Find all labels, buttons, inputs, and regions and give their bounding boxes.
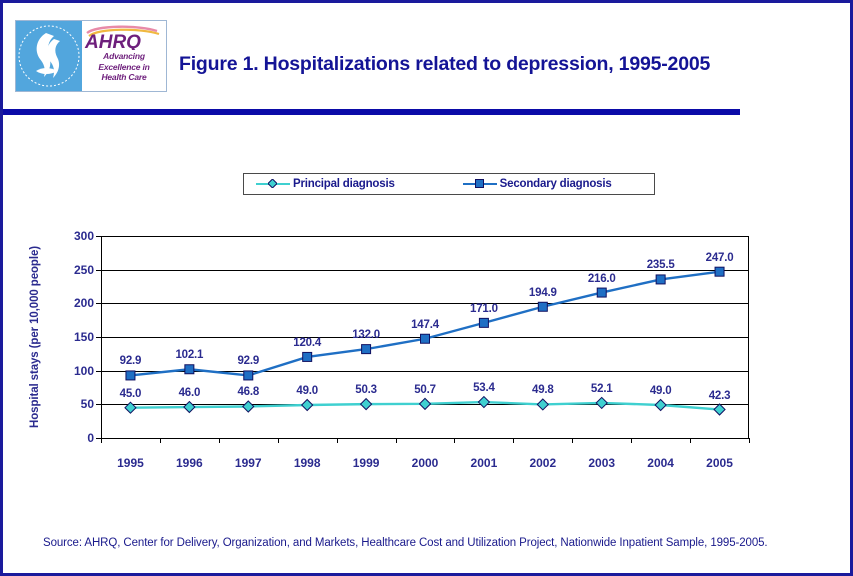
data-point-marker	[715, 267, 724, 276]
data-point-label: 42.3	[709, 390, 731, 402]
x-tick-mark	[396, 438, 397, 443]
data-point-label: 49.8	[532, 384, 554, 396]
data-point-label: 49.0	[296, 385, 318, 397]
chart-area: Principal diagnosis Secondary diagnosis …	[3, 121, 850, 521]
x-tick-label: 1999	[353, 456, 380, 470]
legend-item-secondary: Secondary diagnosis	[463, 178, 612, 190]
x-tick-mark	[101, 438, 102, 443]
data-point-label: 102.1	[175, 349, 203, 361]
x-tick-label: 2001	[471, 456, 498, 470]
x-axis: 1995199619971998199920002001200220032004…	[101, 438, 749, 439]
data-point-marker	[184, 402, 195, 413]
page-title: Figure 1. Hospitalizations related to de…	[179, 53, 710, 76]
data-point-label: 120.4	[293, 337, 321, 349]
legend-label-secondary: Secondary diagnosis	[500, 178, 612, 190]
data-point-marker	[537, 399, 548, 410]
data-point-label: 50.3	[355, 384, 377, 396]
data-point-label: 132.0	[352, 329, 380, 341]
x-tick-label: 1997	[235, 456, 262, 470]
x-tick-mark	[454, 438, 455, 443]
data-point-label: 216.0	[588, 273, 616, 285]
data-point-label: 92.9	[237, 355, 259, 367]
data-point-marker	[479, 318, 488, 327]
data-point-label: 194.9	[529, 287, 557, 299]
hhs-seal-icon	[16, 21, 82, 91]
x-tick-label: 1995	[117, 456, 144, 470]
x-tick-label: 2002	[529, 456, 556, 470]
y-tick-label: 100	[74, 364, 94, 378]
y-tick-label: 50	[81, 397, 94, 411]
figure-page: AHRQ Advancing Excellence in Health Care…	[0, 0, 853, 576]
data-point-marker	[655, 400, 666, 411]
x-tick-mark	[690, 438, 691, 443]
data-point-marker	[478, 397, 489, 408]
x-tick-mark	[160, 438, 161, 443]
x-tick-mark	[572, 438, 573, 443]
data-point-label: 49.0	[650, 385, 672, 397]
data-point-marker	[244, 371, 253, 380]
header-divider	[3, 109, 740, 115]
x-tick-label: 2000	[412, 456, 439, 470]
x-tick-label: 1996	[176, 456, 203, 470]
data-point-label: 92.9	[120, 355, 142, 367]
y-tick-label: 300	[74, 229, 94, 243]
x-tick-mark	[513, 438, 514, 443]
svg-text:AHRQ: AHRQ	[84, 32, 141, 50]
y-tick-label: 200	[74, 296, 94, 310]
data-point-marker	[125, 402, 136, 413]
data-point-marker	[420, 398, 431, 409]
data-point-marker	[362, 345, 371, 354]
data-point-marker	[361, 399, 372, 410]
data-point-label: 46.0	[179, 387, 201, 399]
y-tick-label: 150	[74, 330, 94, 344]
y-axis-title: Hospital stays (per 10,000 people)	[29, 236, 45, 438]
page-header: AHRQ Advancing Excellence in Health Care…	[3, 3, 850, 103]
data-point-marker	[243, 401, 254, 412]
data-point-marker	[185, 365, 194, 374]
data-point-marker	[538, 302, 547, 311]
x-tick-mark	[219, 438, 220, 443]
legend-marker-square-icon	[463, 178, 497, 190]
x-tick-mark	[278, 438, 279, 443]
x-tick-label: 1998	[294, 456, 321, 470]
data-point-label: 46.8	[237, 386, 259, 398]
x-tick-label: 2004	[647, 456, 674, 470]
data-point-marker	[596, 397, 607, 408]
y-tick-label: 250	[74, 263, 94, 277]
data-point-label: 52.1	[591, 383, 613, 395]
x-tick-mark	[631, 438, 632, 443]
legend-marker-diamond-icon	[256, 178, 290, 190]
plot-region: 050100150200250300 45.046.046.849.050.35…	[101, 236, 749, 438]
data-point-label: 235.5	[647, 259, 675, 271]
x-tick-label: 2003	[588, 456, 615, 470]
ahrq-wordmark: AHRQ Advancing Excellence in Health Care	[82, 21, 166, 91]
source-note: Source: AHRQ, Center for Delivery, Organ…	[43, 536, 783, 551]
data-point-marker	[421, 334, 430, 343]
legend-item-principal: Principal diagnosis	[256, 178, 395, 190]
x-tick-label: 2005	[706, 456, 733, 470]
chart-legend: Principal diagnosis Secondary diagnosis	[243, 173, 655, 195]
data-point-label: 247.0	[706, 252, 734, 264]
data-point-label: 53.4	[473, 382, 495, 394]
data-point-marker	[597, 288, 606, 297]
ahrq-acronym-icon: AHRQ	[83, 24, 165, 50]
x-tick-mark	[749, 438, 750, 443]
x-tick-mark	[337, 438, 338, 443]
data-point-label: 171.0	[470, 303, 498, 315]
data-point-marker	[303, 352, 312, 361]
ahrq-tagline: Advancing Excellence in Health Care	[98, 51, 149, 83]
data-point-marker	[302, 400, 313, 411]
data-point-label: 50.7	[414, 384, 436, 396]
data-point-label: 147.4	[411, 319, 439, 331]
data-point-marker	[656, 275, 665, 284]
data-point-marker	[126, 371, 135, 380]
data-point-label: 45.0	[120, 388, 142, 400]
y-tick-label: 0	[87, 431, 94, 445]
legend-label-principal: Principal diagnosis	[293, 178, 395, 190]
ahrq-logo: AHRQ Advancing Excellence in Health Care	[15, 20, 167, 92]
data-point-marker	[714, 404, 725, 415]
